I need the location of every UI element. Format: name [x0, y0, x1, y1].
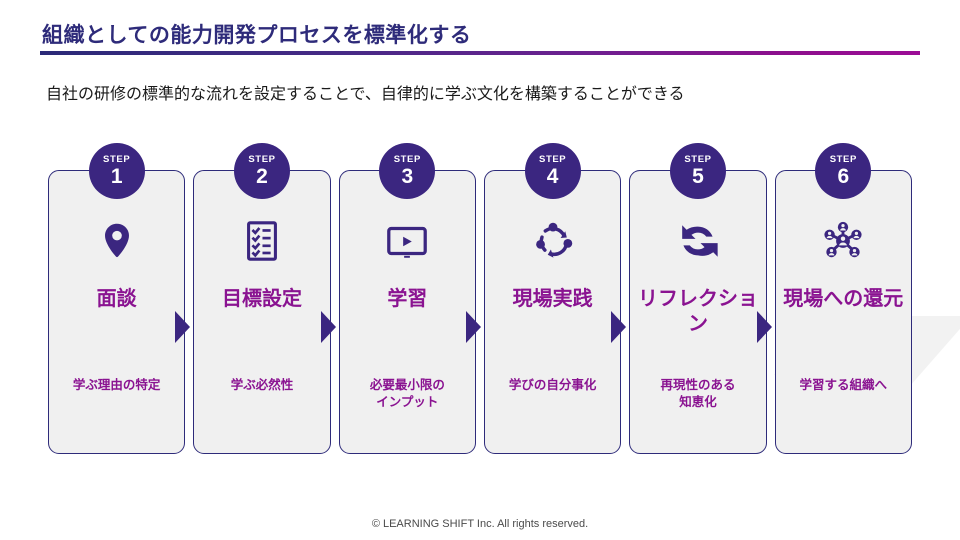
checklist-icon — [239, 213, 285, 269]
step-connector-arrow-2 — [321, 311, 336, 343]
step-badge-3: STEP3 — [379, 143, 435, 199]
step-badge-number: 5 — [692, 166, 704, 187]
step-badge-number: 2 — [256, 166, 268, 187]
step-card-6[interactable]: STEP6 現場への還元学習する組織へ — [775, 170, 912, 454]
step-label-2: 目標設定 — [216, 287, 308, 312]
location-pin-icon — [94, 213, 140, 269]
step-connector-arrow-5 — [757, 311, 772, 343]
step-card-1[interactable]: STEP1面談学ぶ理由の特定 — [48, 170, 185, 454]
step-badge-number: 4 — [547, 166, 559, 187]
step-badge-number: 1 — [111, 166, 123, 187]
network-people-icon — [820, 213, 866, 269]
step-label-5: リフレクション — [630, 287, 765, 337]
step-connector-arrow-3 — [466, 311, 481, 343]
step-sublabel-5: 再現性のある 知恵化 — [630, 377, 765, 411]
step-badge-4: STEP4 — [525, 143, 581, 199]
step-label-4: 現場実践 — [507, 287, 599, 312]
step-badge-1: STEP1 — [89, 143, 145, 199]
step-badge-word: STEP — [539, 155, 566, 165]
step-badge-number: 3 — [401, 166, 413, 187]
step-badge-word: STEP — [830, 155, 857, 165]
step-badge-6: STEP6 — [815, 143, 871, 199]
page-title: 組織としての能力開発プロセスを標準化する — [42, 19, 471, 49]
cycle-arrows-icon — [530, 213, 576, 269]
step-badge-word: STEP — [103, 155, 130, 165]
page-subtitle: 自社の研修の標準的な流れを設定することで、自律的に学ぶ文化を構築することができる — [46, 80, 685, 104]
video-play-icon — [384, 213, 430, 269]
refresh-sync-icon — [675, 213, 721, 269]
step-badge-5: STEP5 — [670, 143, 726, 199]
step-card-2[interactable]: STEP2 目標設定学ぶ必然性 — [193, 170, 330, 454]
step-label-3: 学習 — [381, 287, 433, 312]
step-sublabel-6: 学習する組織へ — [776, 377, 911, 394]
step-sublabel-1: 学ぶ理由の特定 — [49, 377, 184, 394]
step-sublabel-4: 学びの自分事化 — [485, 377, 620, 394]
step-label-1: 面談 — [91, 287, 143, 312]
step-card-5[interactable]: STEP5 リフレクション再現性のある 知恵化 — [629, 170, 766, 454]
step-badge-word: STEP — [248, 155, 275, 165]
step-badge-word: STEP — [394, 155, 421, 165]
step-label-6: 現場への還元 — [777, 287, 909, 312]
step-sublabel-2: 学ぶ必然性 — [194, 377, 329, 394]
footer-copyright: © LEARNING SHIFT Inc. All rights reserve… — [0, 518, 960, 530]
step-sublabel-3: 必要最小限の インプット — [340, 377, 475, 411]
step-connector-arrow-4 — [611, 311, 626, 343]
step-badge-word: STEP — [684, 155, 711, 165]
step-card-3[interactable]: STEP3 学習必要最小限の インプット — [339, 170, 476, 454]
step-card-4[interactable]: STEP4 現場実践学びの自分事化 — [484, 170, 621, 454]
step-connector-arrow-1 — [175, 311, 190, 343]
slide-root: 組織としての能力開発プロセスを標準化する 自社の研修の標準的な流れを設定すること… — [0, 0, 960, 540]
step-badge-number: 6 — [837, 166, 849, 187]
title-underline-rule — [40, 51, 920, 55]
step-badge-2: STEP2 — [234, 143, 290, 199]
